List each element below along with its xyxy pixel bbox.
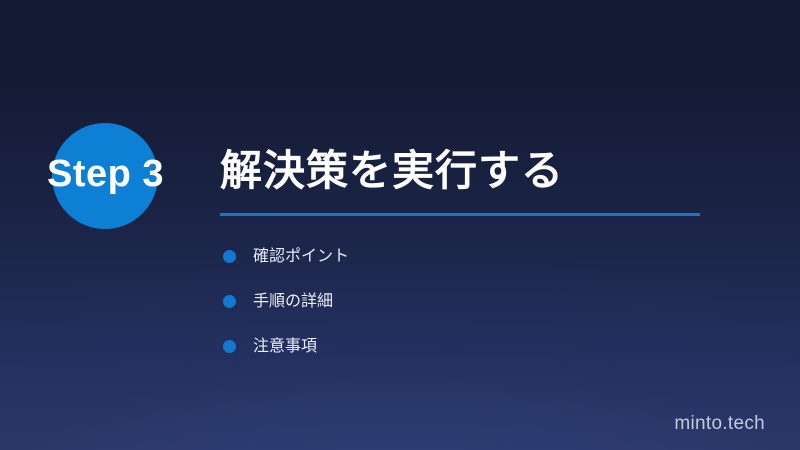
list-item: 注意事項 bbox=[222, 324, 349, 369]
bullet-dot-icon bbox=[223, 340, 236, 353]
bullet-dot-icon bbox=[223, 295, 236, 308]
bullet-item-label: 確認ポイント bbox=[253, 247, 349, 267]
bullet-list: 確認ポイント 手順の詳細 注意事項 bbox=[222, 234, 349, 369]
bullet-dot-icon bbox=[223, 250, 236, 263]
bullet-item-label: 手順の詳細 bbox=[253, 292, 333, 312]
footer-brand: minto.tech bbox=[674, 413, 765, 435]
slide-title: 解決策を実行する bbox=[220, 146, 564, 196]
slide-canvas: Step 3 解決策を実行する 確認ポイント 手順の詳細 注意事項 minto.… bbox=[0, 0, 800, 450]
list-item: 手順の詳細 bbox=[222, 279, 349, 324]
step-badge-label: Step 3 bbox=[47, 153, 164, 195]
title-divider bbox=[220, 213, 700, 216]
list-item: 確認ポイント bbox=[222, 234, 349, 279]
bullet-item-label: 注意事項 bbox=[253, 337, 317, 357]
